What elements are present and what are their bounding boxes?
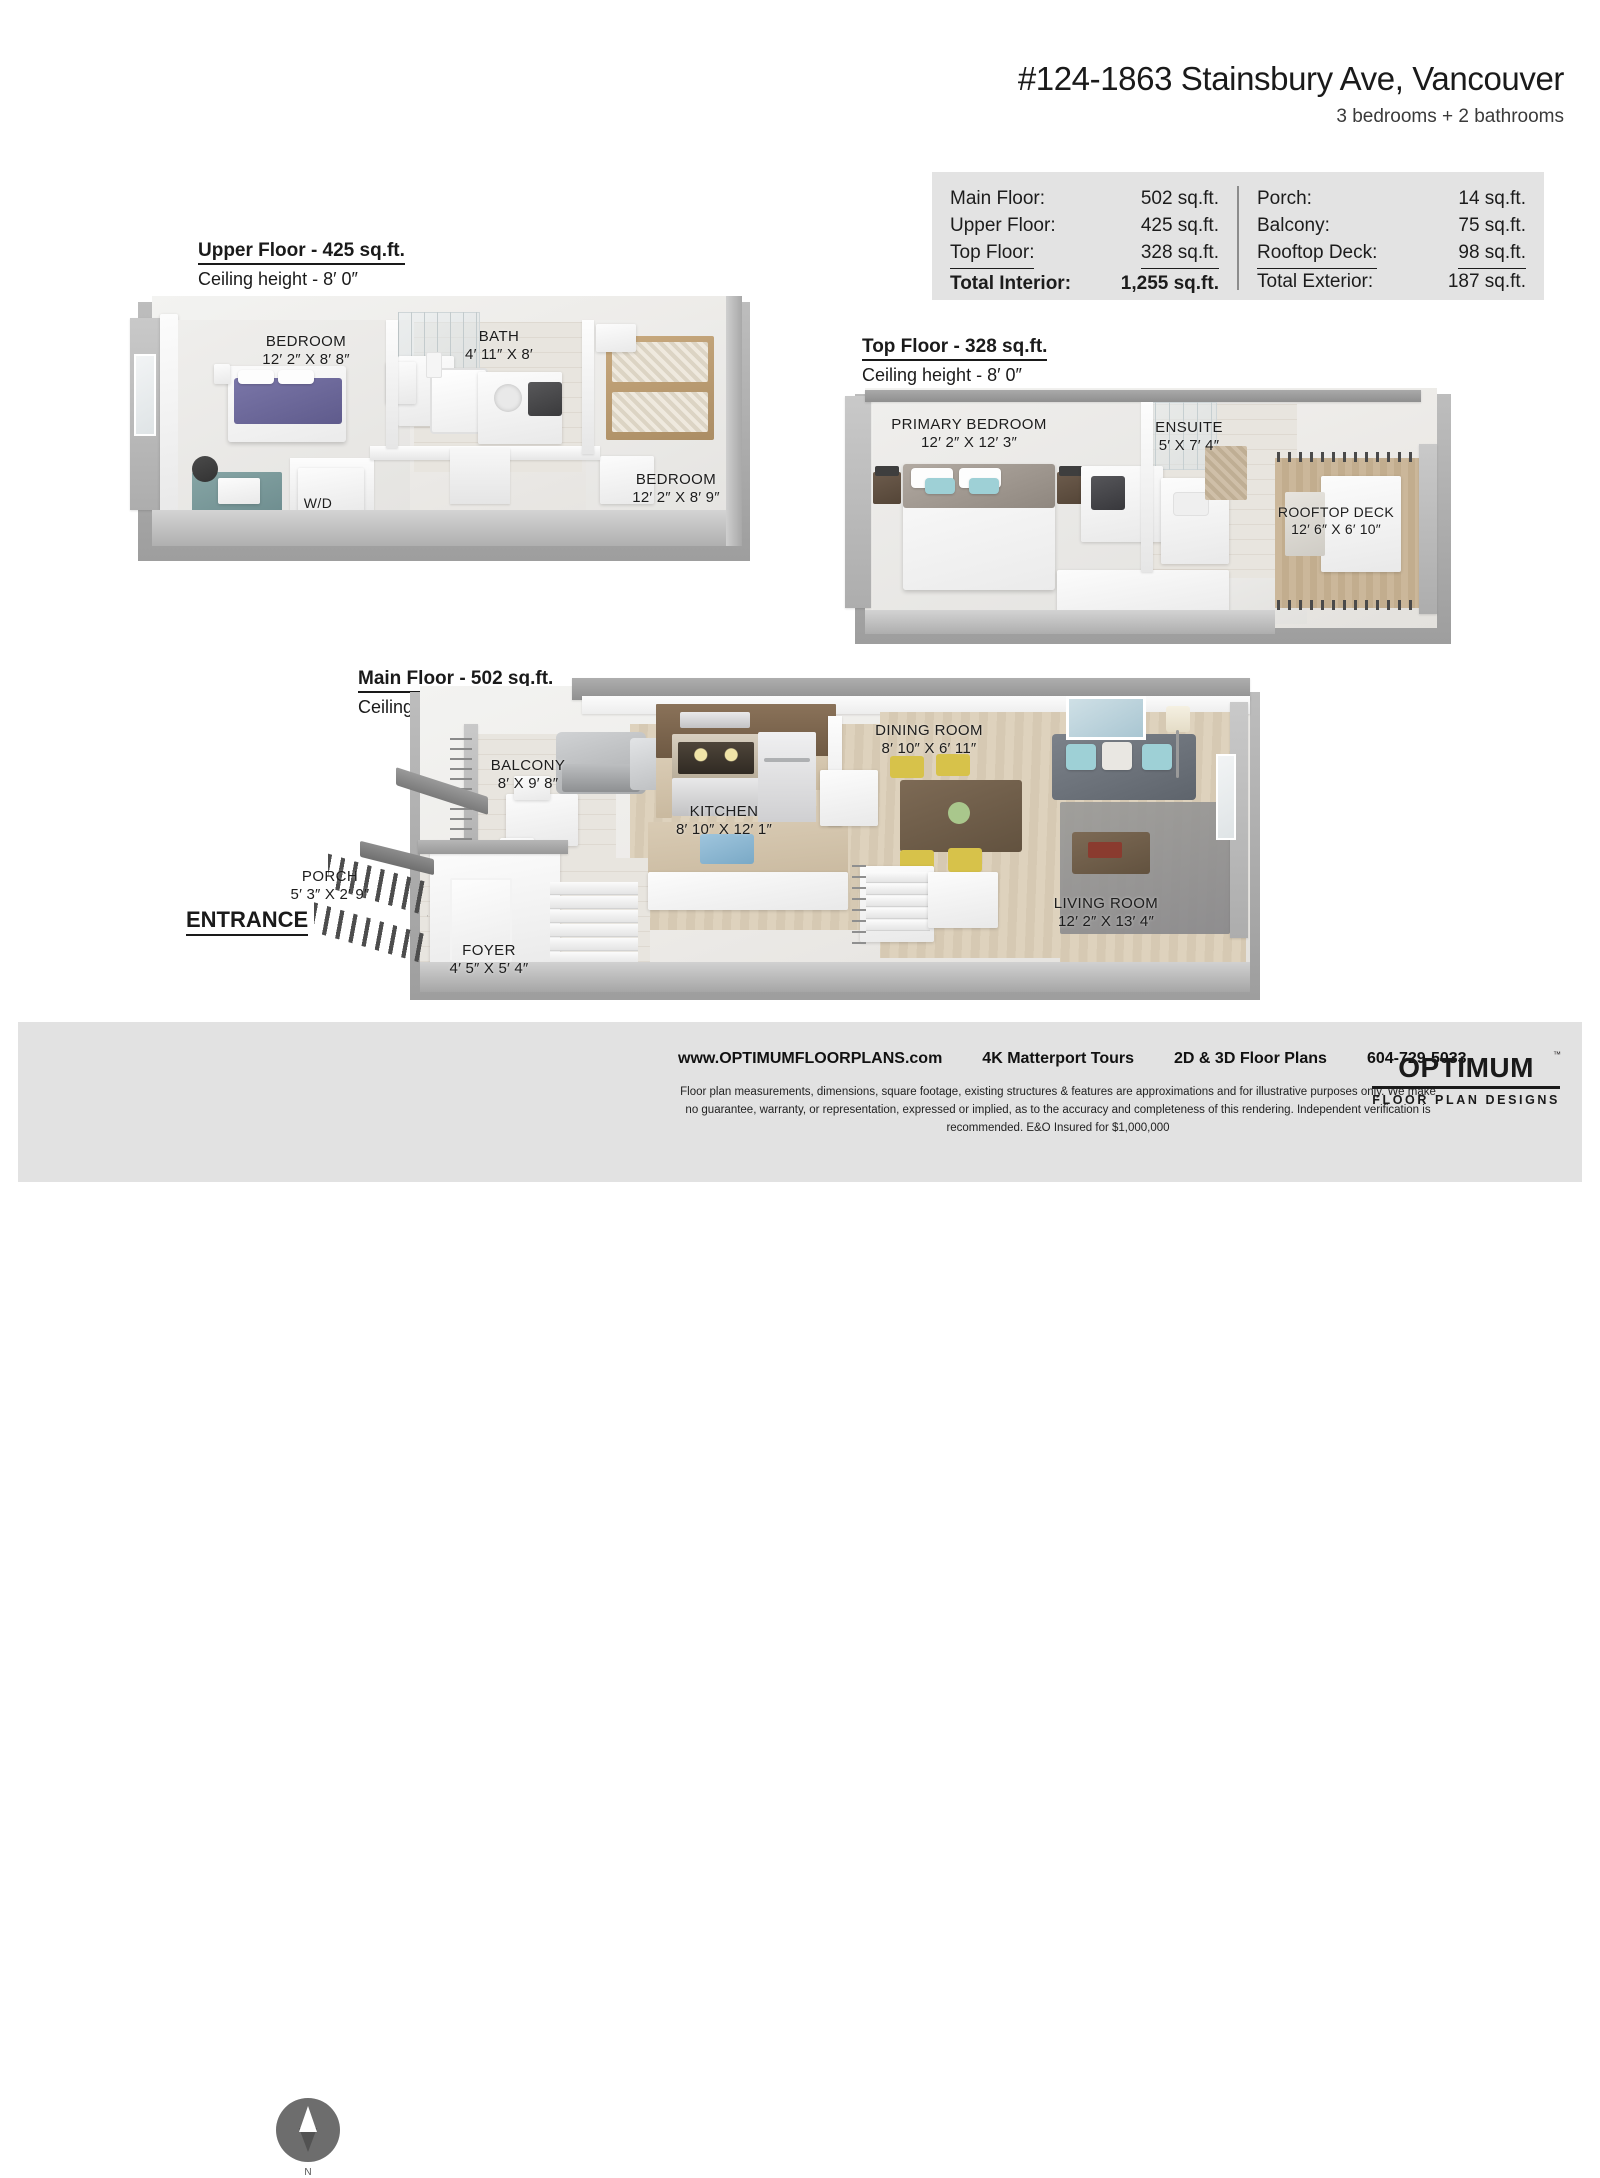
upper-floor-ceiling: Ceiling height - 8′ 0″: [198, 269, 405, 290]
upper-floor-plan-render: [130, 296, 750, 561]
footer-disclaimer: Floor plan measurements, dimensions, squ…: [678, 1084, 1438, 1137]
header-block: #124-1863 Stainsbury Ave, Vancouver 3 be…: [1018, 60, 1564, 128]
table-row-total-interior: Total Interior: 1,255 sq.ft.: [950, 271, 1219, 298]
table-row: Top Floor: 328 sq.ft.: [950, 240, 1219, 269]
room-label-ensuite: ENSUITE 5′ X 7′ 4″: [1155, 419, 1223, 456]
table-row: Balcony: 75 sq.ft.: [1257, 213, 1526, 240]
footer-link-website[interactable]: www.OPTIMUMFLOORPLANS.com: [678, 1050, 942, 1068]
room-label-porch: PORCH 5′ 3″ X 2′ 9″: [291, 868, 370, 905]
footer-links: www.OPTIMUMFLOORPLANS.com 4K Matterport …: [678, 1050, 1467, 1068]
row-value: 1,255 sq.ft.: [1121, 271, 1219, 298]
upper-floor-title: Upper Floor - 425 sq.ft.: [198, 240, 405, 265]
area-summary-table: Main Floor: 502 sq.ft. Upper Floor: 425 …: [932, 172, 1544, 300]
room-label-upper-bath: BATH 4′ 11″ X 8′: [465, 328, 533, 365]
row-label: Main Floor:: [950, 186, 1045, 213]
page-title: #124-1863 Stainsbury Ave, Vancouver: [1018, 60, 1564, 98]
room-label-kitchen: KITCHEN 8′ 10″ X 12′ 1″: [676, 803, 772, 840]
room-label-foyer: FOYER 4′ 5″ X 5′ 4″: [450, 942, 529, 979]
room-label-upper-bedroom-2: BEDROOM 12′ 2″ X 8′ 9″: [632, 471, 719, 508]
main-floor-plan-render: [300, 672, 1260, 1002]
row-value: 502 sq.ft.: [1141, 186, 1219, 213]
row-label: Balcony:: [1257, 213, 1330, 240]
row-value: 328 sq.ft.: [1141, 240, 1219, 269]
compass-north-label: N: [304, 2167, 311, 2178]
row-value: 14 sq.ft.: [1458, 186, 1526, 213]
row-value: 75 sq.ft.: [1458, 213, 1526, 240]
area-summary-exterior-column: Porch: 14 sq.ft. Balcony: 75 sq.ft. Roof…: [1239, 186, 1544, 290]
top-floor-ceiling: Ceiling height - 8′ 0″: [862, 365, 1047, 386]
entrance-label: ENTRANCE: [186, 907, 308, 936]
row-label: Porch:: [1257, 186, 1312, 213]
table-row: Main Floor: 502 sq.ft.: [950, 186, 1219, 213]
table-row: Rooftop Deck: 98 sq.ft.: [1257, 240, 1526, 269]
trademark-icon: ™: [1553, 1050, 1561, 1059]
table-row-total-exterior: Total Exterior: 187 sq.ft.: [1257, 269, 1526, 296]
top-floor-heading: Top Floor - 328 sq.ft. Ceiling height - …: [862, 336, 1047, 386]
room-label-dining-room: DINING ROOM 8′ 10″ X 6′ 11″: [875, 722, 983, 759]
room-label-upper-washer-dryer: W/D: [304, 495, 332, 512]
row-label: Upper Floor:: [950, 213, 1056, 240]
footer-link-floorplans: 2D & 3D Floor Plans: [1174, 1050, 1327, 1068]
logo-primary-text: OPTIMUM: [1372, 1052, 1560, 1089]
row-value: 425 sq.ft.: [1141, 213, 1219, 240]
row-label: Total Interior:: [950, 271, 1071, 298]
row-label: Total Exterior:: [1257, 269, 1373, 296]
footer-link-matterport: 4K Matterport Tours: [982, 1050, 1134, 1068]
room-label-primary-bedroom: PRIMARY BEDROOM 12′ 2″ X 12′ 3″: [891, 416, 1046, 453]
logo-secondary-text: FLOOR PLAN DESIGNS: [1372, 1093, 1560, 1107]
table-row: Porch: 14 sq.ft.: [1257, 186, 1526, 213]
page-subtitle: 3 bedrooms + 2 bathrooms: [1018, 106, 1564, 128]
room-label-rooftop-deck: ROOFTOP DECK 12′ 6″ X 6′ 10″: [1278, 504, 1394, 538]
row-value: 98 sq.ft.: [1458, 240, 1526, 269]
row-label: Top Floor:: [950, 240, 1034, 269]
optimum-logo: OPTIMUM FLOOR PLAN DESIGNS ™: [1372, 1052, 1560, 1107]
compass-icon: N: [276, 2098, 340, 2162]
footer-bar: N www.OPTIMUMFLOORPLANS.com 4K Matterpor…: [18, 1022, 1582, 1182]
upper-floor-heading: Upper Floor - 425 sq.ft. Ceiling height …: [198, 240, 405, 290]
row-value: 187 sq.ft.: [1448, 269, 1526, 296]
room-label-upper-bedroom-1: BEDROOM 12′ 2″ X 8′ 8″: [262, 333, 349, 370]
top-floor-title: Top Floor - 328 sq.ft.: [862, 336, 1047, 361]
area-summary-interior-column: Main Floor: 502 sq.ft. Upper Floor: 425 …: [932, 186, 1239, 290]
room-label-living-room: LIVING ROOM 12′ 2″ X 13′ 4″: [1054, 895, 1158, 932]
room-label-balcony: BALCONY 8′ X 9′ 8″: [491, 757, 566, 794]
table-row: Upper Floor: 425 sq.ft.: [950, 213, 1219, 240]
row-label: Rooftop Deck:: [1257, 240, 1377, 269]
